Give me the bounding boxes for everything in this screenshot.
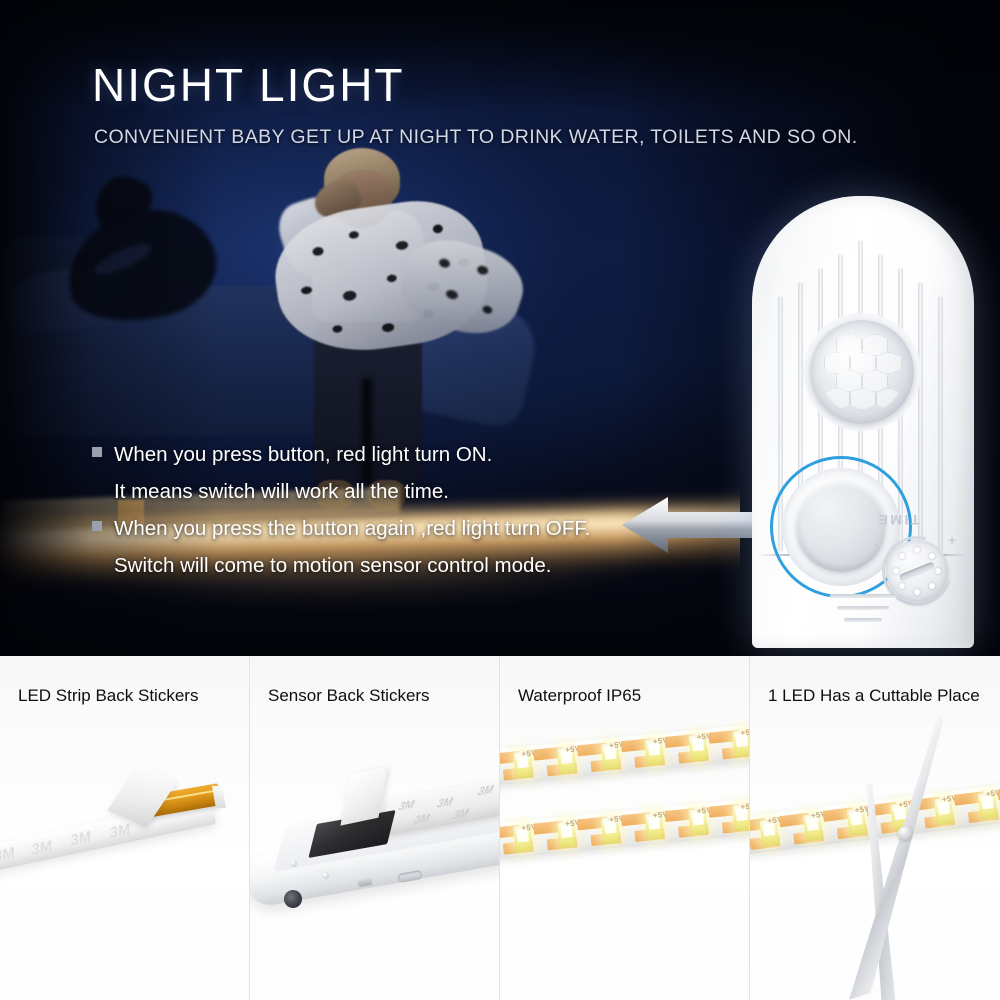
device-rib [938,296,943,552]
pir-facet [824,388,850,410]
square-bullet-icon [92,521,102,531]
dial-tick [899,583,905,589]
voltage-marking: +5V [740,801,750,811]
minus-sign-icon: - [874,536,879,552]
dial-tick [929,583,935,589]
dial-tick [893,568,899,574]
pir-facet [862,334,888,356]
panel-cuttable: 1 LED Has a Cuttable Place +5V+5V+5V+5V+… [750,656,1000,1000]
bullet-item: When you press the button again ,red lig… [92,512,672,545]
tape-brand-mark: 3M [396,798,416,814]
dial-tick [914,547,920,553]
panel-label: Waterproof IP65 [518,686,641,706]
dial-tick [899,553,905,559]
plus-sign-icon: + [948,532,956,548]
time-dial-label: TIME [876,512,919,528]
panel-sensor-stickers: Sensor Back Stickers 3M 3M 3M 3M 3M [250,656,500,1000]
led-strip: +5V+5V+5V+5V+5V+5V+5V [500,722,750,787]
tape-brand-mark: 3M [451,807,471,823]
bullet-detail: Switch will come to motion sensor contro… [114,549,672,582]
bullet-detail: It means switch will work all the time. [114,475,672,508]
pir-facet [862,370,888,392]
panel-waterproof: Waterproof IP65 +5V+5V+5V+5V+5V+5V+5V +5… [500,656,750,1000]
tape-brand-mark: 3M [0,844,15,866]
bullet-text: When you press the button again ,red lig… [114,512,590,545]
pir-facet [876,352,902,374]
panel-label: 1 LED Has a Cuttable Place [768,686,980,706]
pir-facet [850,352,876,374]
product-infographic: NIGHT LIGHT CONVENIENT BABY GET UP AT NI… [0,0,1000,1000]
screw-icon [290,860,297,867]
square-bullet-icon [92,447,102,457]
pir-dome-icon [810,320,914,424]
bullet-text: When you press button, red light turn ON… [114,438,492,471]
pir-facet [836,370,862,392]
hero-section: NIGHT LIGHT CONVENIENT BABY GET UP AT NI… [0,0,1000,656]
feature-bullet-list: When you press button, red light turn ON… [92,438,672,586]
screw-icon [322,872,329,879]
scissor-blade-upper [849,711,950,1000]
bullet-detail-text: It means switch will work all the time. [114,480,449,503]
device-vent [837,606,889,610]
scissor-pivot-icon [898,826,912,840]
dial-tick [929,553,935,559]
page-title: NIGHT LIGHT [92,62,405,108]
panel-led-strip-stickers: LED Strip Back Stickers 3M 3M 3M 3M [0,656,250,1000]
tape-brand-mark: 3M [110,821,130,843]
pir-facet [850,388,876,410]
panel-label: Sensor Back Stickers [268,686,430,706]
voltage-marking: +5V [740,727,750,737]
dial-tick [914,589,920,595]
feature-panel-row: LED Strip Back Stickers 3M 3M 3M 3M Sens… [0,656,1000,1000]
tape-brand-mark: 3M [435,795,455,811]
tape-brand-mark: 3M [412,812,432,828]
dial-tick [935,568,941,574]
pir-facet [824,352,850,374]
left-arrow-icon [622,494,772,556]
tape-brand-mark: 3M [71,828,91,850]
device-vent [830,594,896,598]
tape-brand-mark: 3M [475,783,495,799]
panel-label: LED Strip Back Stickers [18,686,198,706]
pir-facet-pattern [820,330,904,414]
pir-facet [876,388,902,410]
tape-brand-mark: 3M [32,837,52,859]
led-strip: +5V+5V+5V+5V+5V+5V+5V [500,796,750,861]
panel-artwork: 3M 3M 3M 3M [0,714,250,1000]
time-adjust-knob[interactable] [886,540,948,602]
page-subtitle: CONVENIENT BABY GET UP AT NIGHT TO DRINK… [94,126,858,149]
pir-facet [836,334,862,356]
motion-sensor-device: TIME - + [752,196,974,648]
device-vent [844,618,882,622]
bullet-item: When you press button, red light turn ON… [92,438,672,471]
panel-artwork: 3M 3M 3M 3M 3M [250,714,500,1000]
bullet-detail-text: Switch will come to motion sensor contro… [114,554,552,577]
panel-artwork: +5V+5V+5V+5V+5V+5V+5V +5V+5V+5V+5V+5V+5V… [500,714,750,1000]
knob-slot [899,561,935,581]
panel-artwork: +5V+5V+5V+5V+5V+5V+5V [750,714,1000,1000]
